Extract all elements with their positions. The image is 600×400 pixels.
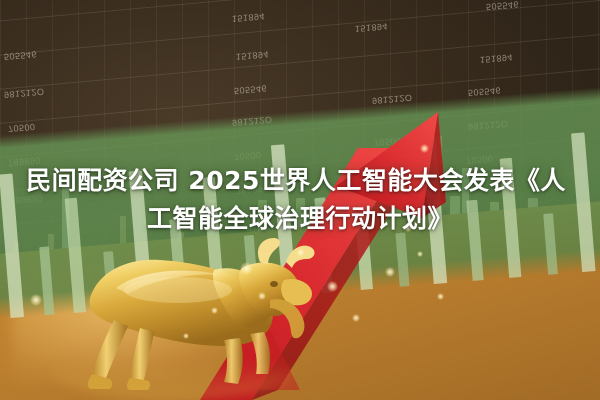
headline-line-1: 民间配资公司 2025世界人工智能大会发表《人 <box>0 162 600 200</box>
banner-image: 1518945055465055461518941518941518949812… <box>0 0 600 400</box>
headline: 民间配资公司 2025世界人工智能大会发表《人 工智能全球治理行动计划》 <box>0 162 600 238</box>
headline-line-2: 工智能全球治理行动计划》 <box>0 200 600 238</box>
